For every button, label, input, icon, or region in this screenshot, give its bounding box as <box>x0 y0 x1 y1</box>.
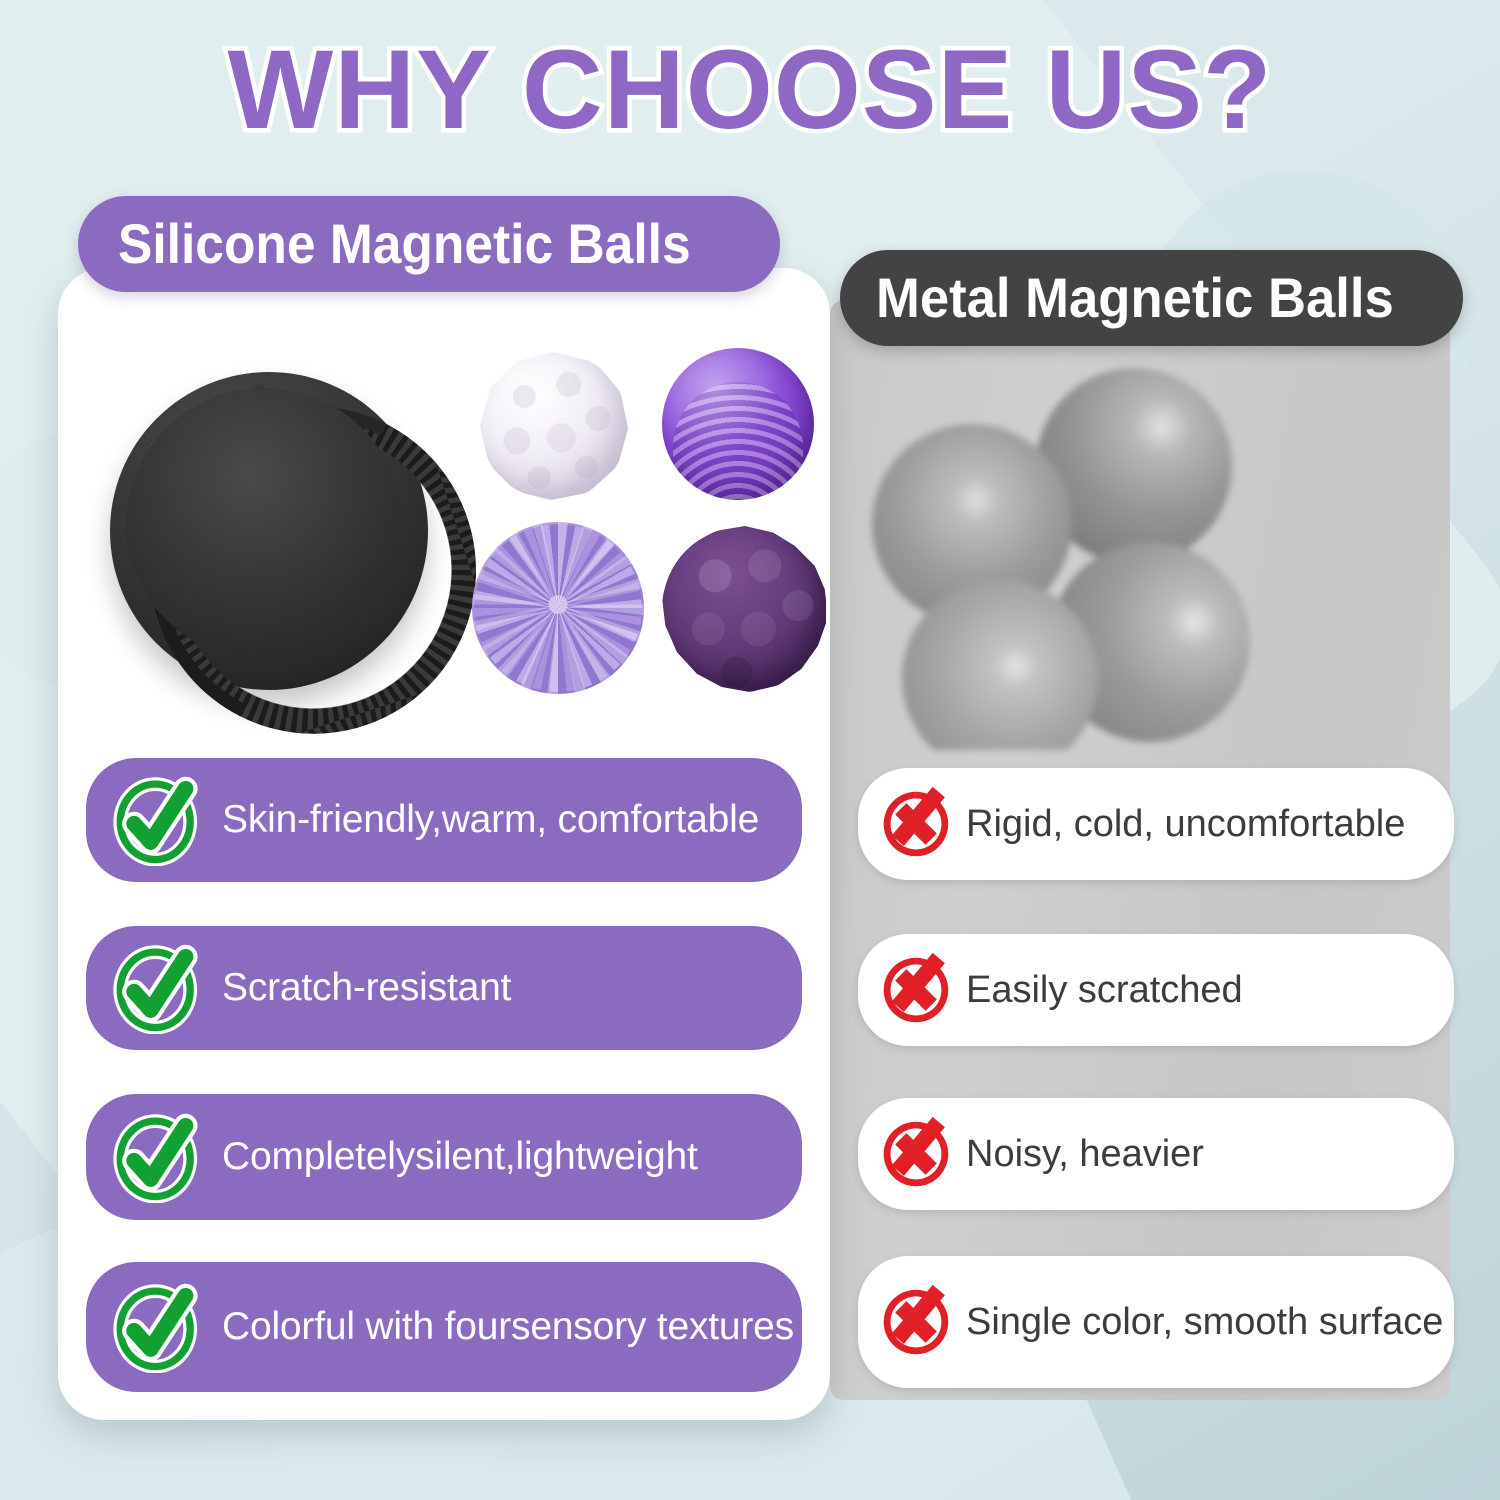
silicone-feature-label: Skin-friendly,warm, comfortable <box>222 799 759 841</box>
carrying-case <box>110 372 428 690</box>
spiky-ball <box>472 522 644 694</box>
metal-drawback-label: Easily scratched <box>966 969 1243 1012</box>
zipper-tab <box>200 381 274 437</box>
hex-faceted-ball <box>480 352 628 500</box>
ridged-ball <box>662 348 814 500</box>
page-title-text: WHY CHOOSE US? <box>228 27 1273 152</box>
silicone-feature-label: Colorful with foursensory textures <box>222 1306 794 1348</box>
metal-drawback-row[interactable]: Single color, smooth surface <box>858 1256 1454 1388</box>
silicone-header-pill: Silicone Magnetic Balls <box>78 196 780 292</box>
silicone-product-image <box>62 330 826 760</box>
metal-header-label: Metal Magnetic Balls <box>876 270 1394 326</box>
silicone-feature-row[interactable]: Colorful with foursensory textures <box>86 1262 802 1392</box>
zipper-pull <box>145 408 205 463</box>
page-title: WHY CHOOSE US? <box>0 34 1500 146</box>
silicone-feature-row[interactable]: Scratch-resistant <box>86 926 802 1050</box>
check-circle-icon <box>112 774 204 866</box>
metal-drawback-row[interactable]: Rigid, cold, uncomfortable <box>858 768 1454 880</box>
x-circle-icon <box>878 1284 954 1360</box>
silicone-feature-row[interactable]: Completelysilent,lightweight <box>86 1094 802 1220</box>
check-circle-icon <box>112 1111 204 1203</box>
zipper-icon <box>107 364 518 760</box>
metal-drawback-row[interactable]: Noisy, heavier <box>858 1098 1454 1210</box>
silicone-feature-label: Scratch-resistant <box>222 967 511 1009</box>
x-circle-icon <box>878 1116 954 1192</box>
silicone-header-label: Silicone Magnetic Balls <box>118 216 691 272</box>
metal-drawback-label: Rigid, cold, uncomfortable <box>966 803 1405 846</box>
bumpy-ball <box>662 526 826 692</box>
metal-drawback-row[interactable]: Easily scratched <box>858 934 1454 1046</box>
metal-drawback-label: Single color, smooth surface <box>966 1301 1443 1344</box>
check-circle-icon <box>112 1281 204 1373</box>
check-circle-icon <box>112 942 204 1034</box>
metal-drawback-label: Noisy, heavier <box>966 1133 1204 1176</box>
metal-header-pill: Metal Magnetic Balls <box>840 250 1463 346</box>
metal-product-image <box>840 330 1440 750</box>
x-circle-icon <box>878 786 954 862</box>
x-circle-icon <box>878 952 954 1028</box>
silicone-feature-row[interactable]: Skin-friendly,warm, comfortable <box>86 758 802 882</box>
silicone-feature-label: Completelysilent,lightweight <box>222 1136 698 1178</box>
